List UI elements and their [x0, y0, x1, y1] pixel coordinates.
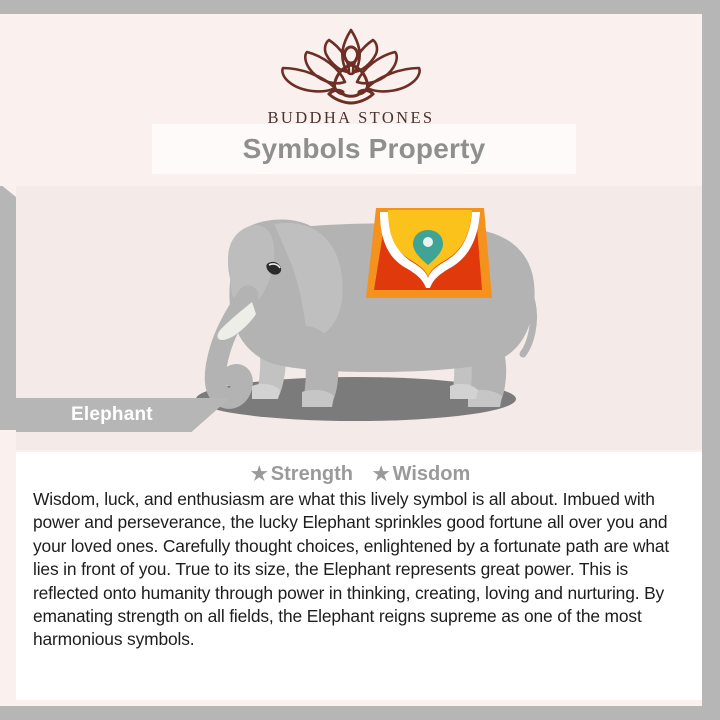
symbol-property-card: BUDDHA STONES Symbols Property [0, 0, 720, 720]
attribute-item-wisdom: ★Wisdom [373, 464, 471, 484]
lotus-meditation-figure-icon [267, 24, 435, 106]
description-panel: ★Strength ★Wisdom Wisdom, luck, and enth… [16, 452, 702, 700]
frame-band-top [0, 0, 720, 14]
symbol-name: Elephant [71, 404, 153, 426]
star-icon: ★ [251, 464, 268, 485]
star-icon: ★ [373, 464, 390, 485]
page-title: Symbols Property [243, 133, 486, 165]
symbol-description: Wisdom, luck, and enthusiasm are what th… [33, 488, 688, 652]
frame-band-bottom [0, 706, 720, 720]
attribute-label: Wisdom [393, 463, 471, 485]
attribute-item-strength: ★Strength [251, 464, 353, 484]
brand-logo: BUDDHA STONES [0, 24, 702, 128]
title-banner: Symbols Property [152, 124, 576, 174]
frame-band-right [702, 0, 720, 720]
attribute-list: ★Strength ★Wisdom [33, 464, 688, 484]
frame-band-left [0, 184, 16, 430]
attribute-label: Strength [271, 463, 353, 485]
